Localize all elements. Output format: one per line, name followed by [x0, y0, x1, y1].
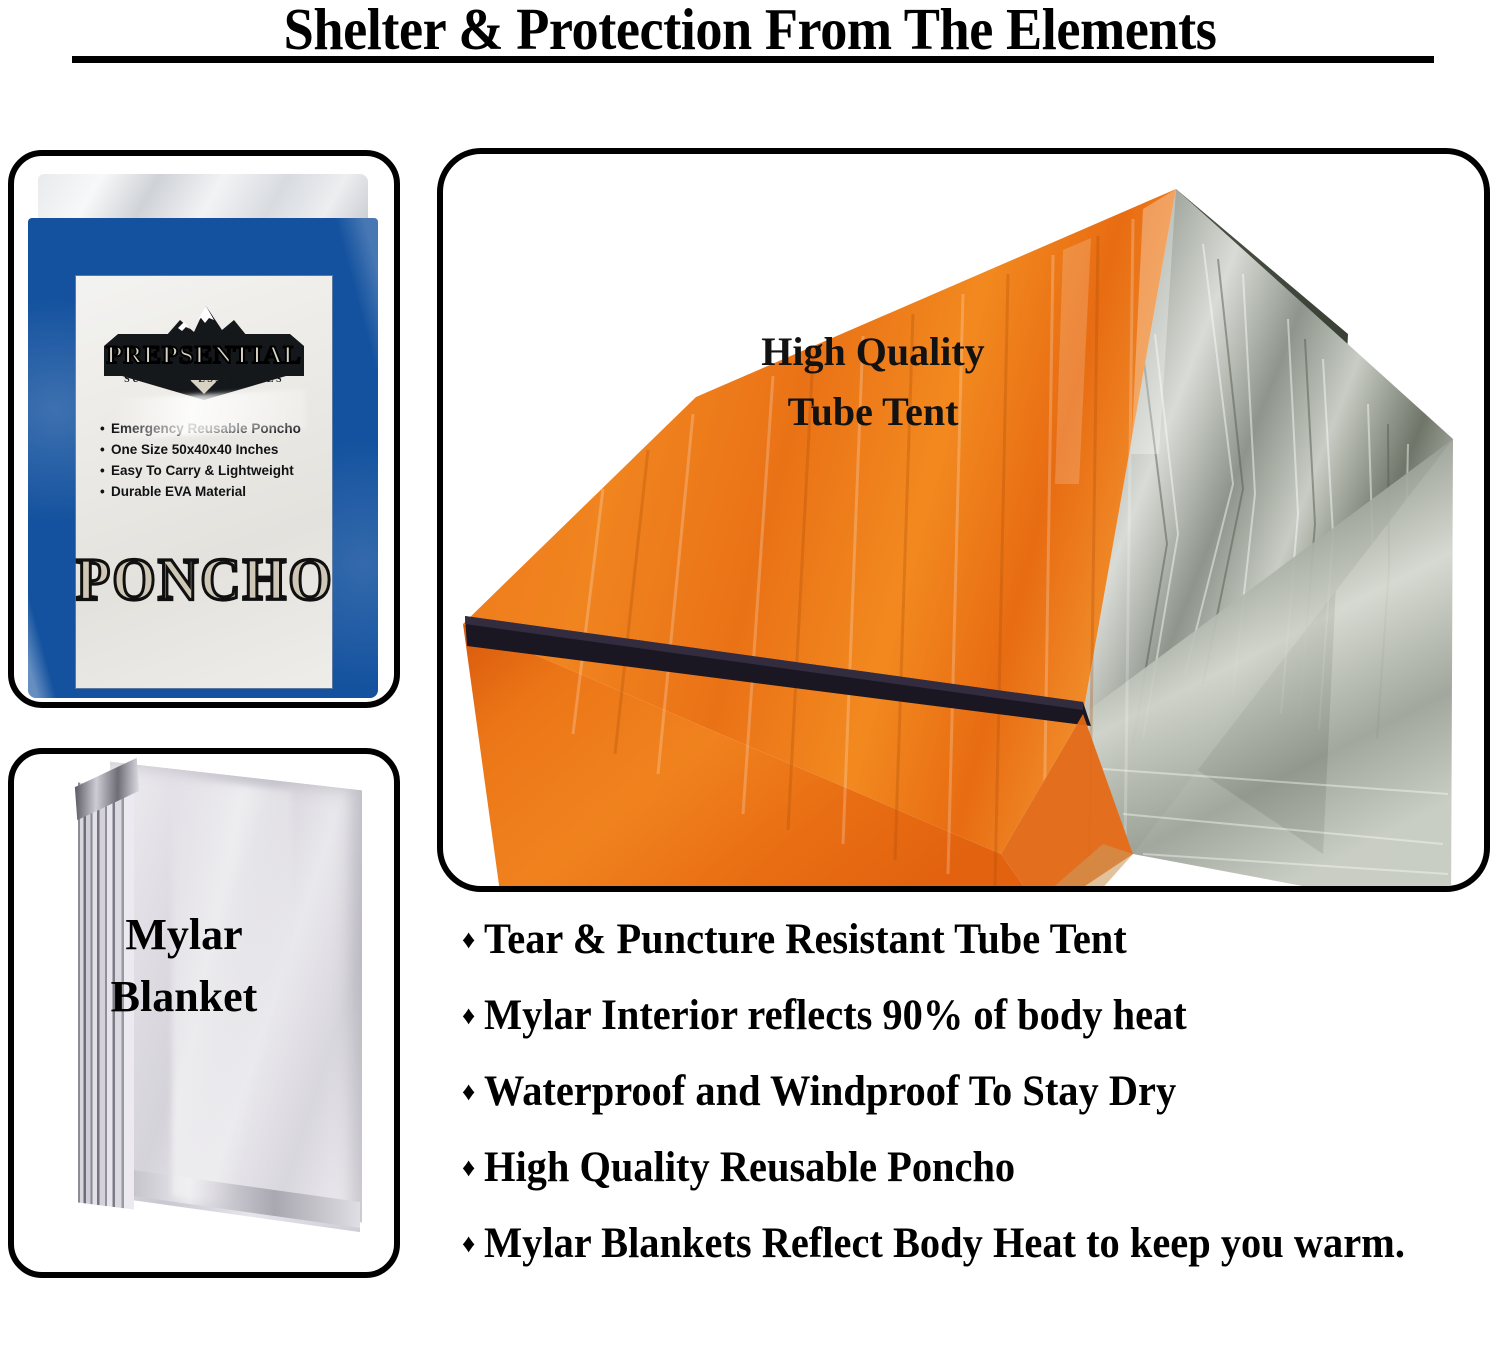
feature-text: Mylar Blankets Reflect Body Heat to keep…	[484, 1219, 1405, 1269]
poncho-wordmark: PONCHO	[76, 545, 332, 614]
feature-text: High Quality Reusable Poncho	[484, 1143, 1015, 1193]
tent-caption-line2: Tube Tent	[663, 382, 1083, 442]
bullet-dot: •	[100, 481, 111, 502]
diamond-bullet-icon: ♦	[462, 915, 475, 965]
package-bullet: •One Size 50x40x40 Inches	[100, 439, 320, 460]
poncho-label-card: PREPSENTIAL SURVIVAL ESSENTIALS •Emergen…	[76, 276, 332, 688]
mylar-panel: Mylar Blanket	[8, 748, 400, 1278]
page-header: Shelter & Protection From The Elements	[0, 0, 1500, 68]
feature-text: Tear & Puncture Resistant Tube Tent	[484, 915, 1127, 965]
bullet-dot: •	[100, 439, 111, 460]
mylar-caption: Mylar Blanket	[54, 904, 314, 1028]
feature-item: ♦ Mylar Blankets Reflect Body Heat to ke…	[462, 1219, 1492, 1269]
diamond-bullet-icon: ♦	[462, 991, 475, 1041]
feature-item: ♦ Tear & Puncture Resistant Tube Tent	[462, 915, 1492, 965]
mylar-caption-line2: Blanket	[54, 966, 314, 1028]
tent-caption-line1: High Quality	[663, 322, 1083, 382]
package-bullet-text: Durable EVA Material	[111, 484, 246, 499]
package-bullet: •Emergency Reusable Poncho	[100, 418, 320, 439]
diamond-bullet-icon: ♦	[462, 1067, 475, 1117]
prepsential-logo: PREPSENTIAL SURVIVAL ESSENTIALS	[94, 290, 314, 402]
feature-item: ♦ High Quality Reusable Poncho	[462, 1143, 1492, 1193]
page-title: Shelter & Protection From The Elements	[60, 0, 1440, 62]
package-bullet: •Easy To Carry & Lightweight	[100, 460, 320, 481]
package-bullet-text: Emergency Reusable Poncho	[111, 421, 301, 436]
mylar-caption-line1: Mylar	[54, 904, 314, 966]
tube-tent-image	[443, 154, 1484, 886]
package-bullet-text: One Size 50x40x40 Inches	[111, 442, 278, 457]
diamond-bullet-icon: ♦	[462, 1143, 475, 1193]
feature-text: Waterproof and Windproof To Stay Dry	[484, 1067, 1176, 1117]
diamond-bullet-icon: ♦	[462, 1219, 475, 1269]
logo-brand-text: PREPSENTIAL	[89, 342, 320, 370]
tent-caption: High Quality Tube Tent	[663, 322, 1083, 442]
package-bullet-list: •Emergency Reusable Poncho •One Size 50x…	[100, 418, 320, 502]
feature-text: Mylar Interior reflects 90% of body heat	[484, 991, 1187, 1041]
tube-tent-panel: High Quality Tube Tent	[437, 148, 1490, 892]
feature-item: ♦ Mylar Interior reflects 90% of body he…	[462, 991, 1492, 1041]
poncho-bag-image: PREPSENTIAL SURVIVAL ESSENTIALS •Emergen…	[28, 174, 378, 698]
logo-tagline-text: SURVIVAL ESSENTIALS	[94, 374, 314, 385]
feature-item: ♦ Waterproof and Windproof To Stay Dry	[462, 1067, 1492, 1117]
title-underline	[72, 56, 1434, 63]
bullet-dot: •	[100, 460, 111, 481]
poncho-panel: PREPSENTIAL SURVIVAL ESSENTIALS •Emergen…	[8, 150, 400, 708]
package-bullet-text: Easy To Carry & Lightweight	[111, 463, 294, 478]
bullet-dot: •	[100, 418, 111, 439]
feature-bullet-list: ♦ Tear & Puncture Resistant Tube Tent ♦ …	[462, 915, 1492, 1295]
package-bullet: •Durable EVA Material	[100, 481, 320, 502]
